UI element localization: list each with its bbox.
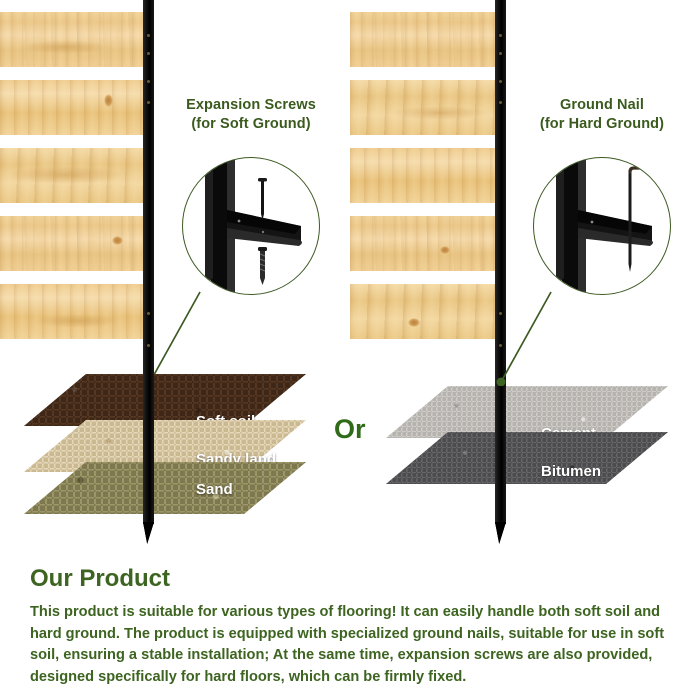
layer-surface: [386, 432, 668, 484]
ground-layer-soft-soil: [24, 374, 306, 426]
product-infographic: Expansion Screws (for Soft Ground) Groun…: [0, 0, 700, 700]
expansion-screws-callout-circle: [182, 157, 320, 295]
callout-label-left: Expansion Screws (for Soft Ground): [166, 96, 336, 134]
callout-title-right: Ground Nail: [517, 96, 687, 115]
ground-nail-detail-icon: [534, 158, 670, 294]
ground-layer-bitumen: [386, 432, 668, 484]
callout-title-left: Expansion Screws: [166, 96, 336, 115]
ground-layer-sand: [24, 462, 306, 514]
callout-subtitle-right: (for Hard Ground): [517, 115, 687, 134]
ground-layer-label-bitumen: Bitumen: [541, 463, 601, 480]
fence-post-left-underground: [143, 374, 154, 524]
callout-subtitle-left: (for Soft Ground): [166, 115, 336, 134]
leader-line-left: [150, 292, 200, 382]
layer-surface: [386, 386, 668, 438]
layer-surface: [24, 462, 306, 514]
ground-layer-label-sand: Sand: [196, 481, 233, 498]
callout-label-right: Ground Nail (for Hard Ground): [517, 96, 687, 134]
leader-line-right: [501, 292, 551, 382]
fence-post-right-underground: [495, 386, 506, 524]
layer-surface: [24, 374, 306, 426]
expansion-screw-detail-icon: [183, 158, 319, 294]
product-description: This product is suitable for various typ…: [30, 602, 682, 688]
ground-layer-cement: [386, 386, 668, 438]
page-title: Our Product: [30, 565, 170, 593]
ground-nail-callout-circle: [533, 157, 671, 295]
or-separator-label: Or: [334, 414, 366, 445]
